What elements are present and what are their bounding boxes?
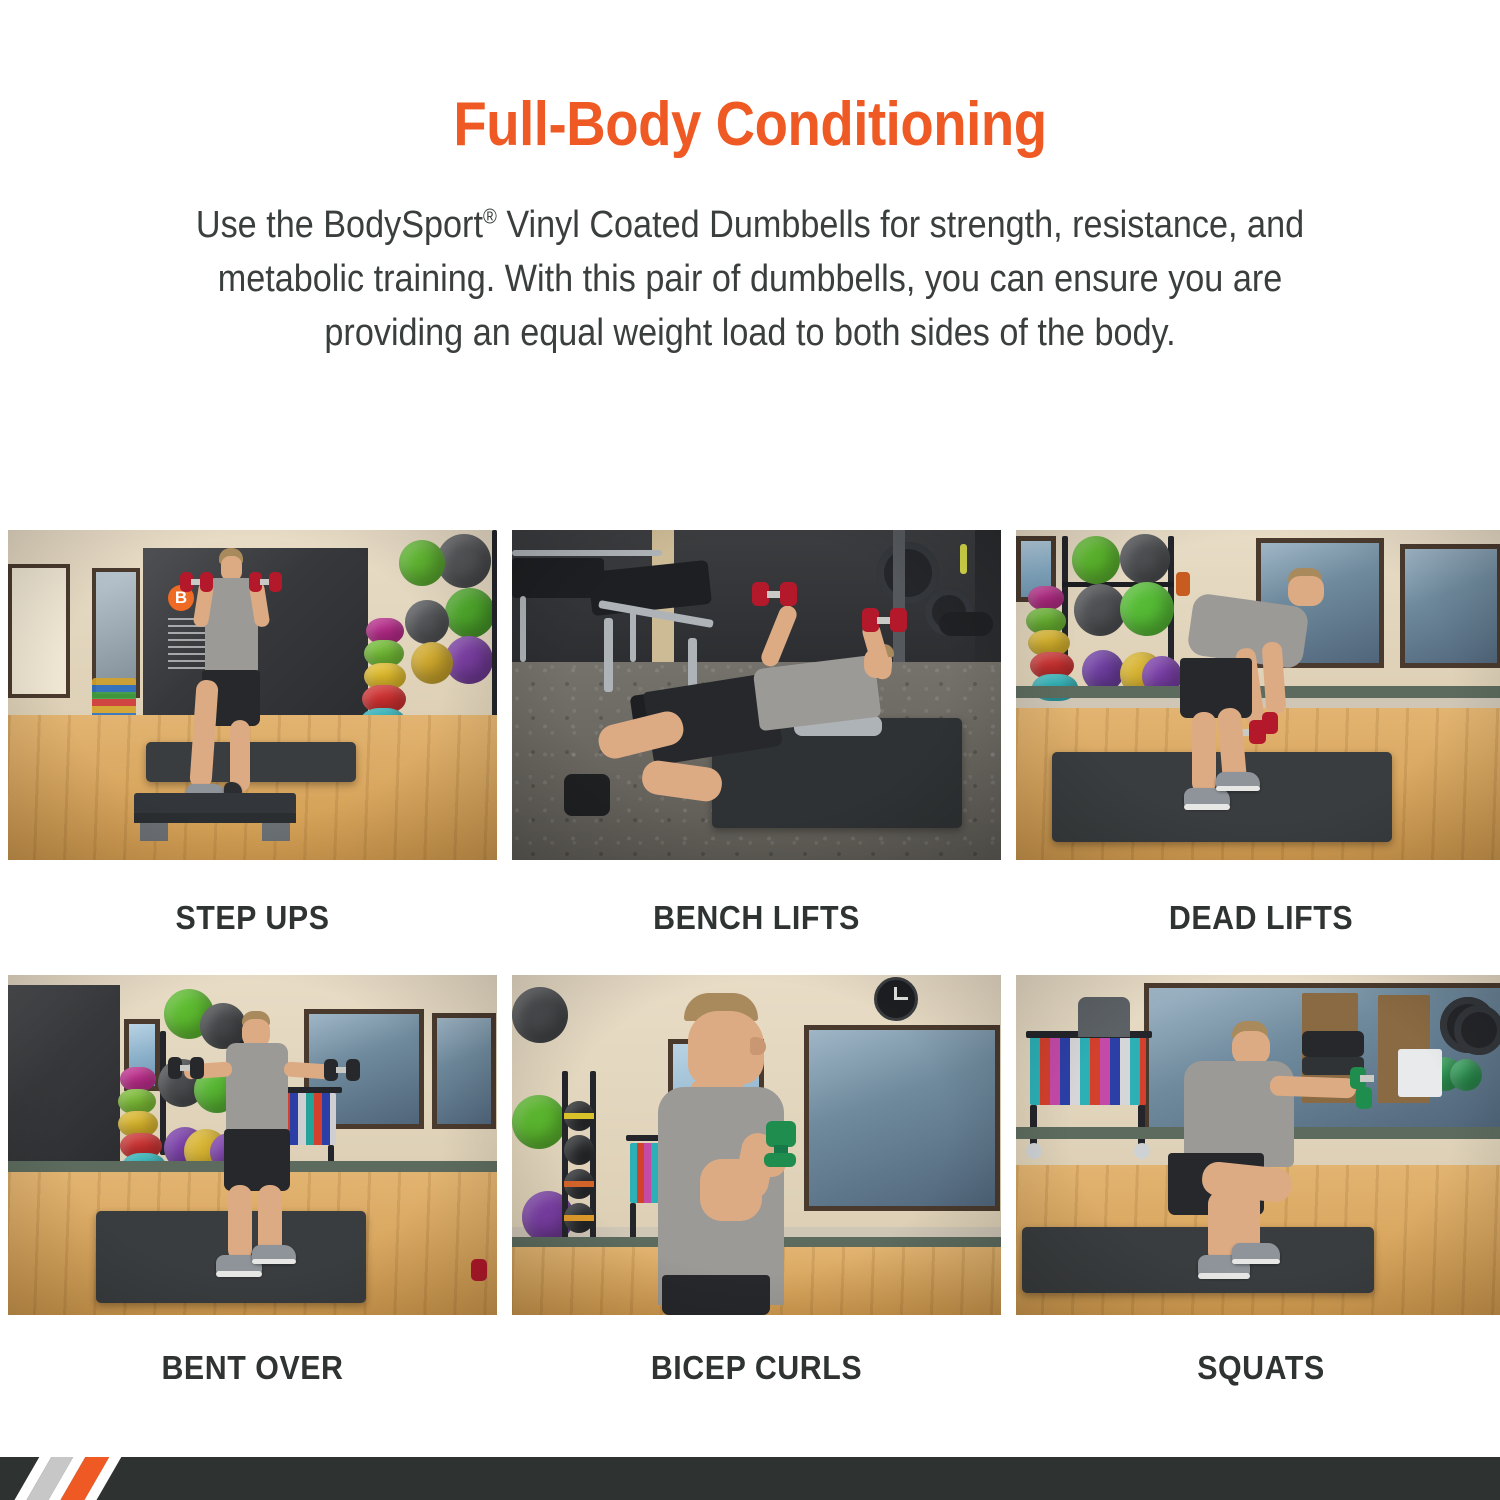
exercise-grid: B	[8, 530, 1492, 1420]
exercise-caption-bent-over: BENT OVER	[28, 1315, 478, 1420]
bottom-accent-band	[0, 1457, 1500, 1500]
exercise-caption-squats: SQUATS	[1036, 1315, 1487, 1420]
intro-paragraph: Use the BodySport® Vinyl Coated Dumbbell…	[170, 199, 1331, 361]
exercise-card-bicep-curls: BICEP CURLS	[512, 975, 1001, 1420]
exercise-card-bench-lifts: BENCH LIFTS	[512, 530, 1001, 975]
exercise-photo-dead-lifts	[1016, 530, 1500, 860]
exercise-card-bent-over: BENT OVER	[8, 975, 497, 1420]
header: Full-Body Conditioning Use the BodySport…	[0, 0, 1500, 361]
exercise-caption-bench-lifts: BENCH LIFTS	[532, 860, 982, 975]
exercise-caption-dead-lifts: DEAD LIFTS	[1036, 860, 1487, 975]
exercise-caption-step-ups: STEP UPS	[28, 860, 478, 975]
page-title: Full-Body Conditioning	[90, 92, 1410, 157]
exercise-photo-bent-over	[8, 975, 497, 1315]
exercise-photo-squats	[1016, 975, 1500, 1315]
exercise-photo-step-ups: B	[8, 530, 497, 860]
exercise-photo-bicep-curls	[512, 975, 1001, 1315]
exercise-caption-bicep-curls: BICEP CURLS	[532, 1315, 982, 1420]
registered-trademark-icon: ®	[483, 205, 497, 228]
infographic-page: Full-Body Conditioning Use the BodySport…	[0, 0, 1500, 1500]
exercise-photo-bench-lifts	[512, 530, 1001, 860]
exercise-card-step-ups: B	[8, 530, 497, 975]
exercise-card-dead-lifts: DEAD LIFTS	[1016, 530, 1500, 975]
exercise-card-squats: SQUATS	[1016, 975, 1500, 1420]
intro-text-before-mark: Use the BodySport	[196, 204, 483, 246]
